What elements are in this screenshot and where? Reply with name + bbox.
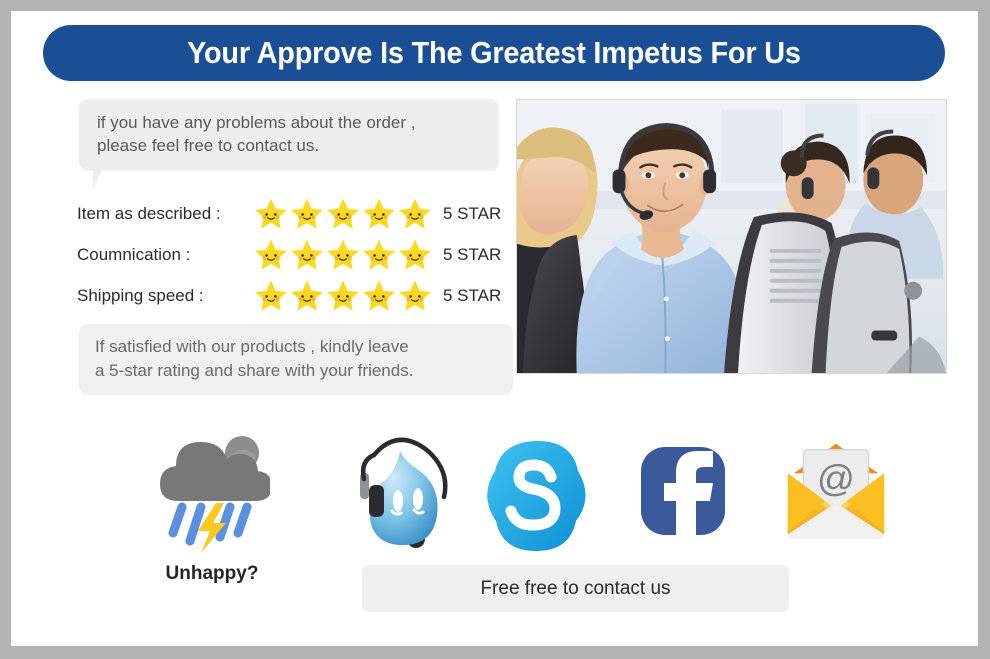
svg-text:@: @ bbox=[817, 457, 855, 499]
bubble-line-2: please feel free to contact us. bbox=[97, 134, 483, 157]
bubble-line-1: if you have any problems about the order… bbox=[97, 111, 483, 134]
satisfaction-note: If satisfied with our products , kindly … bbox=[79, 324, 513, 395]
speech-bubble-tail bbox=[93, 169, 133, 188]
rating-label: Item as described : bbox=[77, 204, 253, 224]
header-banner: Your Approve Is The Greatest Impetus For… bbox=[43, 25, 945, 81]
skype-icon[interactable] bbox=[478, 429, 598, 555]
rating-value: 5 STAR bbox=[443, 204, 501, 224]
star-icon bbox=[325, 279, 361, 313]
star-group bbox=[253, 279, 431, 313]
facebook-icon[interactable] bbox=[623, 429, 743, 555]
contact-bar[interactable]: Free free to contact us bbox=[362, 565, 789, 612]
rating-list: Item as described : 5 STAR Coumnication … bbox=[77, 193, 517, 316]
star-icon bbox=[253, 197, 289, 231]
rating-value: 5 STAR bbox=[443, 286, 501, 306]
aliwangwang-icon[interactable] bbox=[343, 429, 463, 555]
rating-row: Coumnication : 5 STAR bbox=[77, 234, 517, 275]
email-icon[interactable]: @ bbox=[776, 429, 896, 555]
star-icon bbox=[253, 238, 289, 272]
speech-bubble: if you have any problems about the order… bbox=[79, 99, 499, 171]
star-icon bbox=[361, 279, 397, 313]
star-icon bbox=[397, 238, 433, 272]
star-group bbox=[253, 238, 431, 272]
note-line-2: a 5-star rating and share with your frie… bbox=[95, 359, 499, 383]
note-line-1: If satisfied with our products , kindly … bbox=[95, 335, 499, 359]
contact-bar-text: Free free to contact us bbox=[480, 578, 670, 600]
star-icon bbox=[289, 197, 325, 231]
storm-cloud-icon[interactable] bbox=[152, 429, 272, 555]
content-canvas: Your Approve Is The Greatest Impetus For… bbox=[11, 11, 978, 646]
star-group bbox=[253, 197, 431, 231]
rating-label: Coumnication : bbox=[77, 245, 253, 265]
rating-row: Item as described : 5 STAR bbox=[77, 193, 517, 234]
rating-value: 5 STAR bbox=[443, 245, 501, 265]
unhappy-label: Unhappy? bbox=[139, 563, 285, 585]
star-icon bbox=[253, 279, 289, 313]
star-icon bbox=[289, 279, 325, 313]
star-icon bbox=[361, 197, 397, 231]
banner-title: Your Approve Is The Greatest Impetus For… bbox=[187, 35, 801, 71]
star-icon bbox=[397, 279, 433, 313]
star-icon bbox=[289, 238, 325, 272]
contact-icon-row: @ bbox=[11, 429, 978, 569]
star-icon bbox=[325, 197, 361, 231]
call-center-photo bbox=[516, 99, 947, 374]
rating-label: Shipping speed : bbox=[77, 286, 253, 306]
page-frame: Your Approve Is The Greatest Impetus For… bbox=[0, 0, 990, 659]
star-icon bbox=[325, 238, 361, 272]
star-icon bbox=[361, 238, 397, 272]
star-icon bbox=[397, 197, 433, 231]
rating-row: Shipping speed : 5 STAR bbox=[77, 275, 517, 316]
